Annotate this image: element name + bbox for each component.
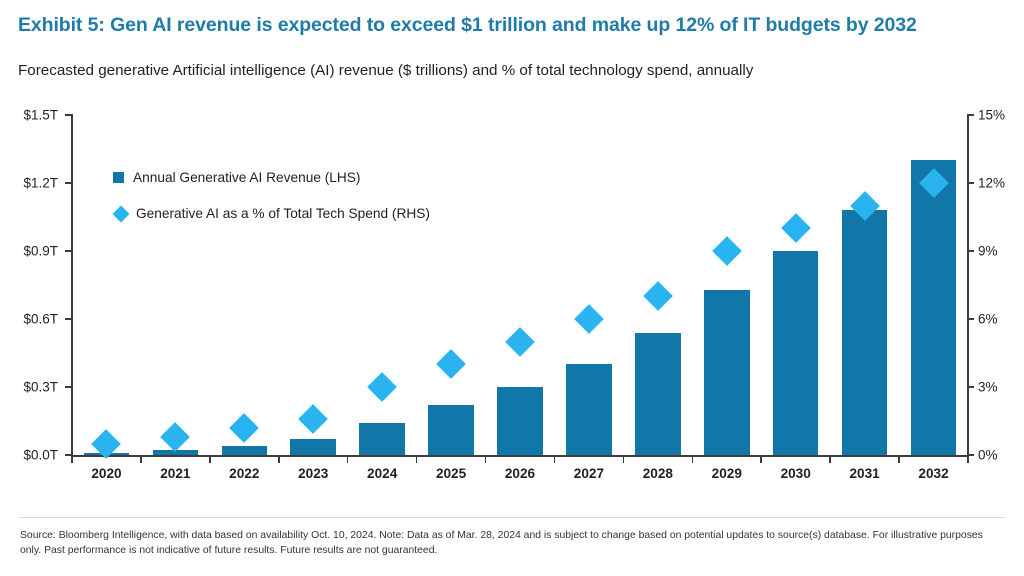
diamond-marker-2026[interactable] [505,327,535,357]
right-axis-tick [968,386,974,388]
x-axis-label-2031: 2031 [849,466,879,481]
right-axis-tick [968,454,974,456]
right-axis-tick [968,318,974,320]
right-axis-label: 9% [978,244,998,259]
x-axis-tick [760,456,762,463]
diamond-marker-2025[interactable] [436,349,466,379]
diamond-marker-2023[interactable] [298,404,328,434]
x-axis-tick [278,456,280,463]
left-axis-tick [65,386,71,388]
x-axis-label-2021: 2021 [160,466,190,481]
legend-item-revenue[interactable]: Annual Generative AI Revenue (LHS) [113,170,430,185]
source-note: Source: Bloomberg Intelligence, with dat… [20,528,1006,558]
footer-divider [18,517,1006,518]
left-axis-tick [65,454,71,456]
diamond-marker-2021[interactable] [161,422,191,452]
right-axis-label: 6% [978,312,998,327]
right-axis-tick [968,182,974,184]
x-axis-line [71,455,969,457]
left-axis-label: $0.3T [0,380,58,395]
x-axis-label-2022: 2022 [229,466,259,481]
bar-2023[interactable] [290,439,335,455]
bar-2026[interactable] [497,387,542,455]
bar-2022[interactable] [222,446,267,455]
left-axis-tick [65,250,71,252]
x-axis-tick [416,456,418,463]
x-axis-label-2028: 2028 [643,466,673,481]
left-axis-label: $1.2T [0,176,58,191]
chart-legend: Annual Generative AI Revenue (LHS) Gener… [113,170,430,242]
x-axis-label-2024: 2024 [367,466,397,481]
plot-area [72,115,968,455]
bar-2030[interactable] [773,251,818,455]
x-axis-tick [209,456,211,463]
x-axis-tick [140,456,142,463]
legend-label-revenue: Annual Generative AI Revenue (LHS) [133,170,361,185]
bar-2031[interactable] [842,210,887,455]
left-axis-label: $0.6T [0,312,58,327]
right-axis-label: 3% [978,380,998,395]
square-marker-icon [113,172,124,183]
left-axis-label: $0.9T [0,244,58,259]
x-axis-tick [623,456,625,463]
bar-2028[interactable] [635,333,680,455]
x-axis-label-2026: 2026 [505,466,535,481]
diamond-marker-2027[interactable] [574,304,604,334]
x-axis-label-2032: 2032 [918,466,948,481]
bar-2025[interactable] [428,405,473,455]
x-axis-label-2023: 2023 [298,466,328,481]
right-axis-label: 0% [978,448,998,463]
x-axis-tick [898,456,900,463]
x-axis-label-2020: 2020 [91,466,121,481]
chart-figure: Exhibit 5: Gen AI revenue is expected to… [0,0,1024,576]
left-axis-label: $1.5T [0,108,58,123]
right-axis-label: 12% [978,176,1005,191]
bar-2027[interactable] [566,364,611,455]
left-axis-tick [65,182,71,184]
diamond-marker-2028[interactable] [643,281,673,311]
legend-label-share: Generative AI as a % of Total Tech Spend… [136,206,430,221]
bar-2032[interactable] [911,160,956,455]
bar-2024[interactable] [359,423,404,455]
diamond-marker-2029[interactable] [712,236,742,266]
bar-2029[interactable] [704,290,749,455]
diamond-marker-2024[interactable] [367,372,397,402]
right-axis-tick [968,114,974,116]
x-axis-tick [829,456,831,463]
legend-item-share[interactable]: Generative AI as a % of Total Tech Spend… [113,206,430,221]
chart-subtitle: Forecasted generative Artificial intelli… [18,62,753,79]
x-axis-label-2027: 2027 [574,466,604,481]
right-axis-label: 15% [978,108,1005,123]
x-axis-tick [967,456,969,463]
left-axis-label: $0.0T [0,448,58,463]
x-axis-tick [692,456,694,463]
x-axis-tick [554,456,556,463]
diamond-marker-icon [113,205,130,222]
x-axis-tick [485,456,487,463]
x-axis-tick [347,456,349,463]
diamond-marker-2022[interactable] [229,413,259,443]
diamond-marker-2030[interactable] [781,213,811,243]
x-axis-tick [71,456,73,463]
x-axis-label-2029: 2029 [712,466,742,481]
left-axis-tick [65,318,71,320]
x-axis-label-2030: 2030 [781,466,811,481]
page-title: Exhibit 5: Gen AI revenue is expected to… [18,14,917,37]
right-axis-tick [968,250,974,252]
left-axis-tick [65,114,71,116]
x-axis-label-2025: 2025 [436,466,466,481]
